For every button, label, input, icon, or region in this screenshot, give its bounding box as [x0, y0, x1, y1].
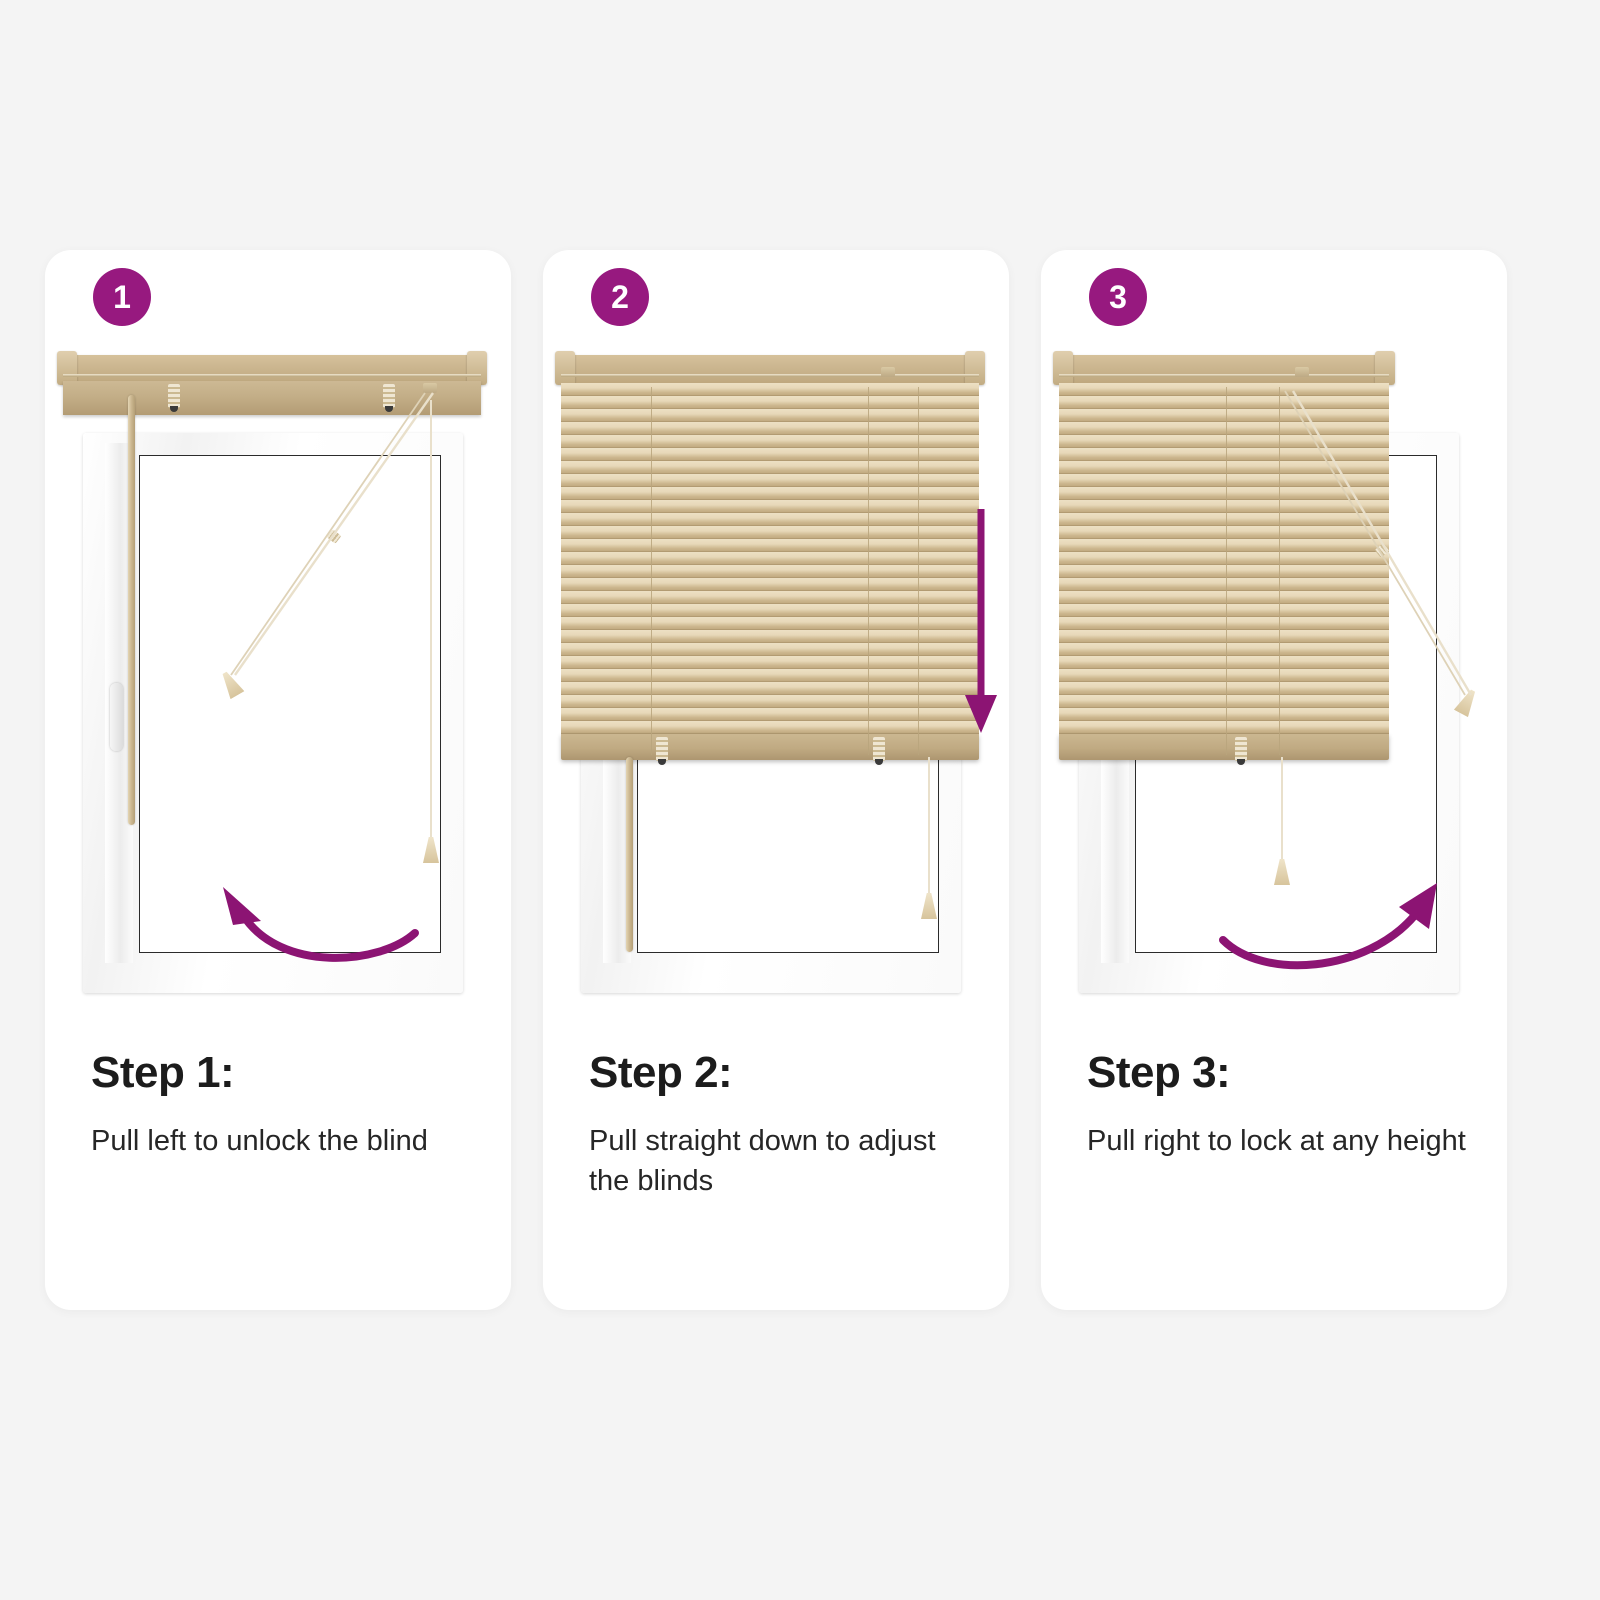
- step-description: Pull right to lock at any height: [1087, 1122, 1467, 1161]
- blind-headrail: [561, 355, 979, 383]
- blind-slats: [561, 383, 979, 734]
- blind-slat: [561, 617, 979, 630]
- ladder-string: [651, 387, 652, 755]
- step-illustration-2: [543, 345, 1009, 1010]
- step-text-2: Step 2: Pull straight down to adjust the…: [589, 1050, 969, 1201]
- ladder-string: [868, 387, 869, 755]
- blind-slat: [561, 656, 979, 669]
- blind-assembly: [561, 355, 979, 760]
- step-card-2: 2: [543, 250, 1009, 1310]
- blind-slat: [561, 526, 979, 539]
- arrow-down-icon: [961, 505, 1001, 735]
- blind-slat: [561, 500, 979, 513]
- blind-slat: [561, 643, 979, 656]
- blind-slat: [561, 396, 979, 409]
- blind-slat: [561, 578, 979, 591]
- step-title: Step 1:: [91, 1050, 471, 1096]
- tilt-wand[interactable]: [626, 757, 633, 952]
- step-card-1: 1: [45, 250, 511, 1310]
- blind-slat: [561, 604, 979, 617]
- headrail-endcap-left: [555, 351, 575, 385]
- blind-slat: [561, 422, 979, 435]
- step-illustration-1: [45, 345, 511, 1010]
- step-description: Pull left to unlock the blind: [91, 1122, 471, 1161]
- step-illustration-3: [1041, 345, 1507, 1010]
- step-text-1: Step 1: Pull left to unlock the blind: [91, 1050, 471, 1162]
- blind-slat: [561, 565, 979, 578]
- blind-slat: [561, 552, 979, 565]
- blind-slat: [561, 474, 979, 487]
- ladder-string: [918, 387, 919, 755]
- blind-slat: [561, 695, 979, 708]
- headrail-endcap-right: [965, 351, 985, 385]
- blind-slat: [561, 591, 979, 604]
- step-badge-2: 2: [591, 268, 649, 326]
- blind-slat: [561, 409, 979, 422]
- blind-slat: [561, 682, 979, 695]
- step-card-3: 3: [1041, 250, 1507, 1310]
- cord-clip: [656, 737, 668, 761]
- cord-guide: [881, 367, 895, 377]
- blind-bottom-rail: [561, 734, 979, 760]
- step-badge-3: 3: [1089, 268, 1147, 326]
- blind-slat: [561, 487, 979, 500]
- blind-slat: [561, 630, 979, 643]
- steps-container: 1: [45, 250, 1555, 1310]
- blind-slat: [561, 708, 979, 721]
- blind-slat: [561, 721, 979, 734]
- blind-slat: [561, 448, 979, 461]
- instruction-board: 1: [0, 0, 1600, 1600]
- step-text-3: Step 3: Pull right to lock at any height: [1087, 1050, 1467, 1162]
- curved-arrow-left-icon: [195, 845, 445, 975]
- blind-slat: [561, 383, 979, 396]
- blind-slat: [561, 539, 979, 552]
- blind-slat: [561, 513, 979, 526]
- step-title: Step 2:: [589, 1050, 969, 1096]
- step-title: Step 3:: [1087, 1050, 1467, 1096]
- curved-arrow-right-icon: [1201, 845, 1461, 985]
- blind-slat: [561, 461, 979, 474]
- step-description: Pull straight down to adjust the blinds: [589, 1122, 969, 1201]
- lift-cord[interactable]: [928, 757, 930, 897]
- cord-clip: [873, 737, 885, 761]
- blind-slat: [561, 435, 979, 448]
- blind-slat: [561, 669, 979, 682]
- step-badge-1: 1: [93, 268, 151, 326]
